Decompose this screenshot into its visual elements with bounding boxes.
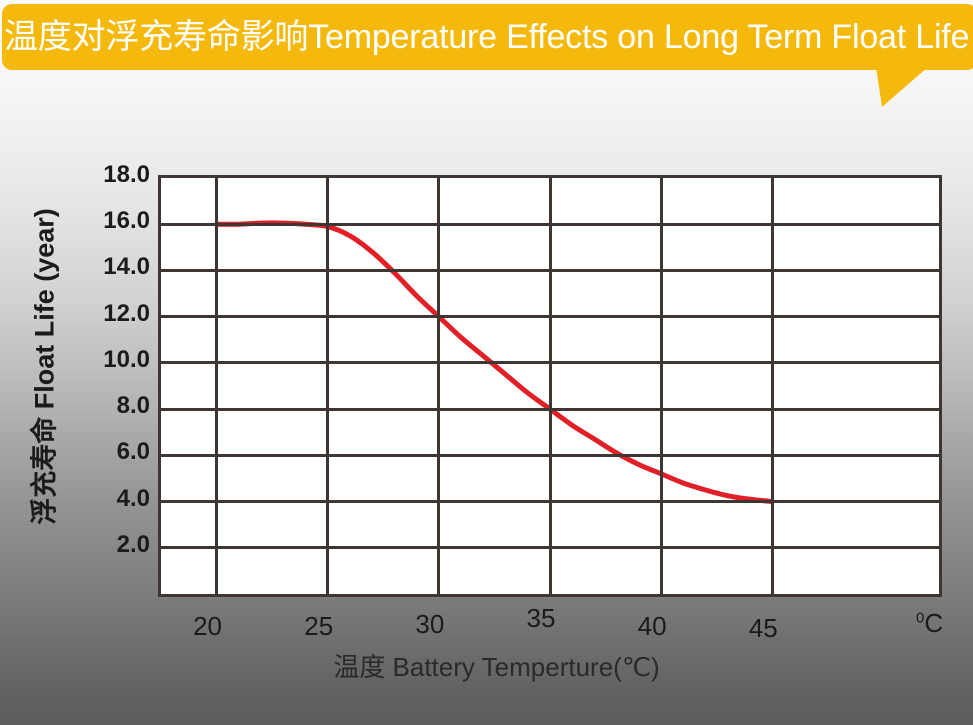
gridline-vertical [771,178,774,594]
gridline-horizontal [161,408,939,411]
gridline-horizontal [161,269,939,272]
gridline-horizontal [161,223,939,226]
y-tick-label: 16.0 [88,209,150,233]
y-axis-tick-labels: 2.04.06.08.010.012.014.016.018.0 [88,175,150,597]
y-tick-label: 18.0 [88,163,150,187]
plot-area [158,175,942,597]
gridline-horizontal [161,500,939,503]
y-tick-label: 14.0 [88,255,150,279]
gridline-horizontal [161,361,939,364]
page-title: 温度对浮充寿命影响Temperature Effects on Long Ter… [2,20,969,54]
y-tick-label: 4.0 [88,487,150,511]
x-tick-label: 30 [415,611,444,637]
chart-page: 温度对浮充寿命影响Temperature Effects on Long Ter… [0,0,973,725]
gridline-horizontal [161,546,939,549]
y-tick-label: 10.0 [88,348,150,372]
gridline-vertical [215,178,218,594]
x-axis-tick-labels: 0C 202530354045 [0,597,973,643]
gridline-vertical [660,178,663,594]
x-axis-unit-label: 0C [916,610,943,636]
y-tick-label: 6.0 [88,440,150,464]
gridline-vertical [437,178,440,594]
gridline-vertical [549,178,552,594]
float-life-chart: 浮充寿命 Float Life (year) 2.04.06.08.010.01… [0,108,973,725]
title-banner: 温度对浮充寿命影响Temperature Effects on Long Ter… [0,4,973,108]
banner-tail-icon [876,67,928,107]
gridline-horizontal [161,454,939,457]
x-tick-label: 45 [749,615,778,641]
title-banner-body: 温度对浮充寿命影响Temperature Effects on Long Ter… [2,4,973,70]
x-tick-label: 35 [527,605,556,631]
y-tick-label: 8.0 [88,394,150,418]
gridline-vertical [326,178,329,594]
y-tick-label: 12.0 [88,302,150,326]
y-tick-label: 2.0 [88,533,150,557]
y-axis-title: 浮充寿命 Float Life (year) [32,152,59,582]
x-tick-label: 40 [638,613,667,639]
gridline-horizontal [161,315,939,318]
x-axis-title: 温度 Battery Temperture(℃) [0,654,973,680]
x-tick-label: 25 [304,613,333,639]
x-tick-label: 20 [193,613,222,639]
